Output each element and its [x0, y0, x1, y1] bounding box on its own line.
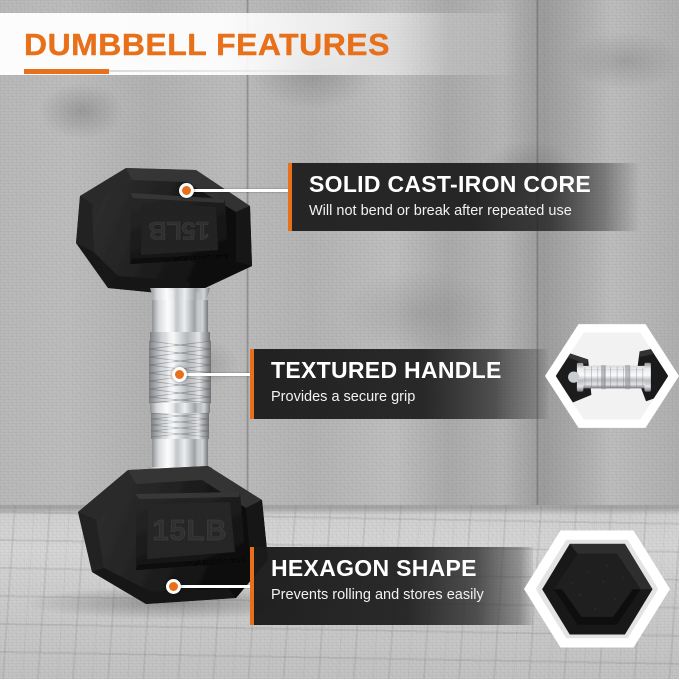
- feature-title: TEXTURED HANDLE: [271, 358, 548, 382]
- wall-seam-line: [246, 0, 249, 505]
- title-underline-bar: [24, 69, 109, 74]
- infographic-canvas: 15LB: [0, 0, 679, 679]
- feature-callout-hexagon-shape[interactable]: HEXAGON SHAPE Prevents rolling and store…: [250, 547, 533, 625]
- leader-line-core: [186, 189, 292, 192]
- page-title: DUMBBELL FEATURES: [24, 27, 390, 63]
- feature-title: HEXAGON SHAPE: [271, 556, 533, 580]
- inset-hex-border: [545, 322, 679, 430]
- marker-dot-handle: [172, 367, 187, 382]
- callout-panel: TEXTURED HANDLE Provides a secure grip: [254, 349, 548, 419]
- inset-hex-border: [524, 528, 670, 650]
- feature-callout-textured-handle[interactable]: TEXTURED HANDLE Provides a secure grip: [250, 349, 548, 419]
- leader-line-handle: [178, 373, 252, 376]
- feature-subtitle: Provides a secure grip: [271, 389, 548, 406]
- inset-hex-image: [536, 538, 659, 640]
- feature-callout-solid-cast-iron-core[interactable]: SOLID CAST-IRON CORE Will not bend or br…: [288, 163, 640, 231]
- marker-dot-hexagon: [166, 579, 181, 594]
- title-underline-fade: [109, 70, 369, 72]
- inset-handle-closeup[interactable]: [545, 322, 679, 430]
- feature-subtitle: Will not bend or break after repeated us…: [309, 203, 640, 220]
- inset-hexagon-endcap[interactable]: [524, 528, 670, 650]
- marker-dot-core: [179, 183, 194, 198]
- feature-title: SOLID CAST-IRON CORE: [309, 172, 640, 196]
- leader-line-hexagon: [173, 585, 252, 588]
- callout-panel: SOLID CAST-IRON CORE Will not bend or br…: [292, 163, 640, 231]
- feature-subtitle: Prevents rolling and stores easily: [271, 587, 533, 604]
- inset-hex-image: [556, 331, 669, 422]
- wall-seam-line: [536, 0, 539, 505]
- callout-panel: HEXAGON SHAPE Prevents rolling and store…: [254, 547, 533, 625]
